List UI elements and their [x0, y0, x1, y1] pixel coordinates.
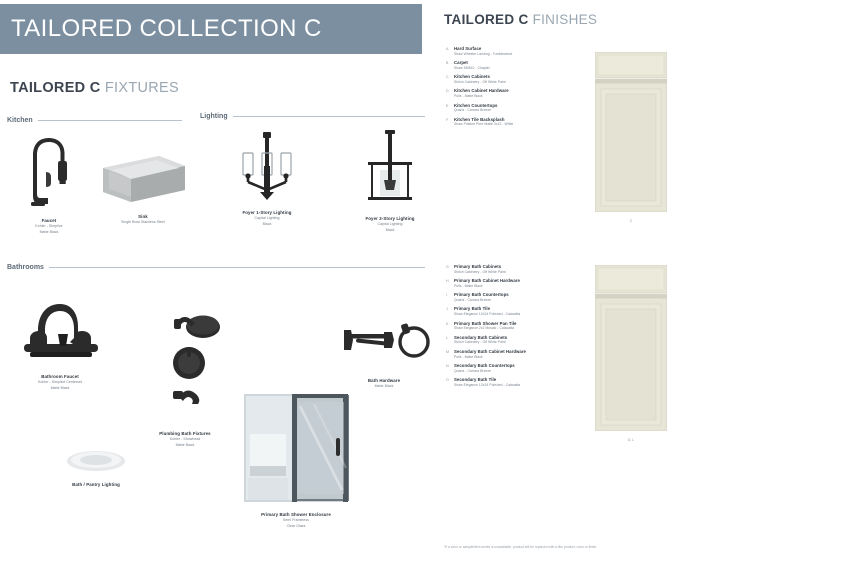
finish-marker: G — [446, 264, 454, 275]
finish-desc: Quartz - Carrara Breeze — [454, 108, 497, 113]
kitchen-finishes-list: A Hard Surface Shaw Wheeler Landing - Tu… — [446, 46, 596, 131]
finish-desc: Shaw SM510 - Chapter — [454, 66, 490, 71]
finish-marker: D — [446, 88, 454, 99]
product-foyer-2story-lighting: Foyer 2-Story Lighting Capital Lighting … — [340, 128, 440, 233]
group-rule — [49, 267, 425, 268]
lantern-pendant-icon — [358, 128, 422, 208]
product-bath-pantry-lighting: Bath / Pantry Lighting — [42, 448, 150, 488]
group-bathrooms: Bathrooms — [7, 264, 425, 271]
list-item: N Secondary Bath Countertops Quartz - Ca… — [446, 363, 596, 374]
group-label-bathrooms: Bathrooms — [7, 264, 49, 271]
bath-cabinet-door-swatch: G, L — [595, 265, 667, 442]
kitchen-sink-icon — [97, 148, 189, 206]
list-item: K Primary Bath Shower Pan Tile Shaw Eleg… — [446, 321, 596, 332]
finishes-section-heading: TAILORED C FINISHES — [444, 12, 597, 27]
finish-desc: Pulls - Matte Black — [454, 94, 509, 99]
list-item: B Carpet Shaw SM510 - Chapter — [446, 60, 596, 71]
finish-marker: E — [446, 103, 454, 114]
fixtures-section-heading: TAILORED C FIXTURES — [10, 80, 179, 96]
product-kitchen-faucet: Faucet Kohler - Simplice Matte Black — [10, 128, 88, 235]
finish-name: Secondary Bath Countertops — [454, 363, 515, 369]
list-item: G Primary Bath Cabinets Shiloh Cabinetry… — [446, 264, 596, 275]
finishes-heading-bold: TAILORED C — [444, 12, 529, 27]
finish-marker: M — [446, 349, 454, 360]
finish-marker: F — [446, 117, 454, 128]
recessed-light-icon — [65, 448, 127, 474]
finish-desc: Shaw Elegance 12x24 Polished - Calacatta — [454, 383, 520, 388]
fixtures-column: TAILORED COLLECTION C TAILORED C FIXTURE… — [0, 0, 430, 569]
finish-marker: H — [446, 278, 454, 289]
list-item: C Kitchen Cabinets Shiloh Cabinetry - Of… — [446, 74, 596, 85]
fixtures-heading-light: FIXTURES — [105, 80, 179, 96]
product-sub1: Matte Black — [330, 384, 438, 389]
finish-marker: J — [446, 306, 454, 317]
product-sub2: Matte Black — [10, 230, 88, 235]
fixtures-heading-bold: TAILORED C — [10, 80, 101, 96]
footer-disclaimer: *If a color or sample/item series is una… — [444, 545, 844, 550]
bath-faucet-icon — [14, 298, 106, 366]
group-kitchen: Kitchen — [7, 117, 182, 124]
product-sub2: Clear Glass — [235, 524, 357, 529]
kitchen-faucet-icon — [26, 128, 72, 210]
finish-marker: L — [446, 335, 454, 346]
list-item: F Kitchen Tile Backsplash Shaw Pristine … — [446, 117, 596, 128]
finish-name: Primary Bath Cabinets — [454, 264, 506, 270]
finish-desc: Shaw Elegance 12x24 Polished - Calacatta — [454, 312, 520, 317]
cabinet-door-art — [595, 265, 667, 431]
list-item: A Hard Surface Shaw Wheeler Landing - Tu… — [446, 46, 596, 57]
finish-marker: O — [446, 377, 454, 388]
product-sub2: Black — [340, 228, 440, 233]
product-sub1: Single Bowl Stainless Steel — [93, 220, 193, 225]
finishes-heading-light: FINISHES — [533, 12, 598, 27]
product-name: Bath / Pantry Lighting — [42, 482, 150, 488]
group-label-lighting: Lighting — [200, 113, 233, 120]
bath-finishes-list: G Primary Bath Cabinets Shiloh Cabinetry… — [446, 264, 596, 391]
finish-desc: Shiloh Cabinetry - Off White Paint — [454, 270, 506, 275]
list-item: O Secondary Bath Tile Shaw Elegance 12x2… — [446, 377, 596, 388]
product-bathroom-faucet: Bathroom Faucet Kohler - Simplice Center… — [8, 298, 112, 391]
list-item: D Kitchen Cabinet Hardware Pulls - Matte… — [446, 88, 596, 99]
finish-marker: I — [446, 292, 454, 303]
finish-desc: Pulls - Matte Black — [454, 355, 526, 360]
product-kitchen-sink: Sink Single Bowl Stainless Steel — [93, 148, 193, 226]
product-shower-enclosure: Primary Bath Shower Enclosure Semi Frame… — [235, 392, 357, 529]
finish-desc: Pulls - Matte Black — [454, 284, 520, 289]
group-label-kitchen: Kitchen — [7, 117, 38, 124]
finish-marker: A — [446, 46, 454, 57]
finish-desc: Shaw Wheeler Landing - Tumbleweed — [454, 52, 512, 57]
cabinet-door-art — [595, 52, 667, 212]
group-rule — [38, 120, 182, 121]
shower-enclosure-icon — [242, 392, 350, 504]
finish-desc: Shiloh Cabinetry - Off White Paint — [454, 80, 506, 85]
shower-trim-icon — [133, 305, 237, 423]
finish-desc: Quartz - Carrara Breeze — [454, 369, 515, 374]
finish-marker: K — [446, 321, 454, 332]
kitchen-cabinet-door-swatch: C — [595, 52, 667, 223]
page-title: TAILORED COLLECTION C — [0, 15, 322, 43]
finish-marker: B — [446, 60, 454, 71]
product-plumbing-bath-fixtures: Plumbing Bath Fixtures Kohler - Showhead… — [130, 305, 240, 448]
product-bath-hardware: Bath Hardware Matte Black — [330, 318, 438, 390]
list-item: H Primary Bath Cabinet Hardware Pulls - … — [446, 278, 596, 289]
finish-marker: C — [446, 74, 454, 85]
finishes-column: TAILORED C FINISHES A Hard Surface Shaw … — [430, 0, 853, 569]
group-lighting: Lighting — [200, 113, 425, 120]
finish-marker: N — [446, 363, 454, 374]
chandelier-icon — [228, 130, 306, 202]
finish-desc: Quartz - Carrara Breeze — [454, 298, 509, 303]
list-item: J Primary Bath Tile Shaw Elegance 12x24 … — [446, 306, 596, 317]
list-item: M Secondary Bath Cabinet Hardware Pulls … — [446, 349, 596, 360]
list-item: L Secondary Bath Cabinets Shiloh Cabinet… — [446, 335, 596, 346]
towel-bar-ring-icon — [334, 318, 434, 370]
finish-desc: Shaw Elegance 2x2 Mosaic - Calacatta — [454, 326, 516, 331]
finish-desc: Shiloh Cabinetry - Off White Paint — [454, 340, 507, 345]
finish-name: Secondary Bath Cabinet Hardware — [454, 349, 526, 355]
collection-title-bar: TAILORED COLLECTION C — [0, 4, 422, 54]
collection-spec-page: TAILORED COLLECTION C TAILORED C FIXTURE… — [0, 0, 853, 569]
list-item: I Primary Bath Countertops Quartz - Carr… — [446, 292, 596, 303]
finish-desc: Shaw Pristine Pure Matte 3x12 - White — [454, 122, 513, 127]
product-foyer-1story-lighting: Foyer 1-Story Lighting Capital Lighting … — [215, 130, 319, 227]
group-rule — [233, 116, 425, 117]
product-sub2: Matte Black — [8, 386, 112, 391]
product-sub2: Black — [215, 222, 319, 227]
swatch-label: C — [595, 219, 667, 223]
list-item: E Kitchen Countertops Quartz - Carrara B… — [446, 103, 596, 114]
swatch-label: G, L — [595, 438, 667, 442]
